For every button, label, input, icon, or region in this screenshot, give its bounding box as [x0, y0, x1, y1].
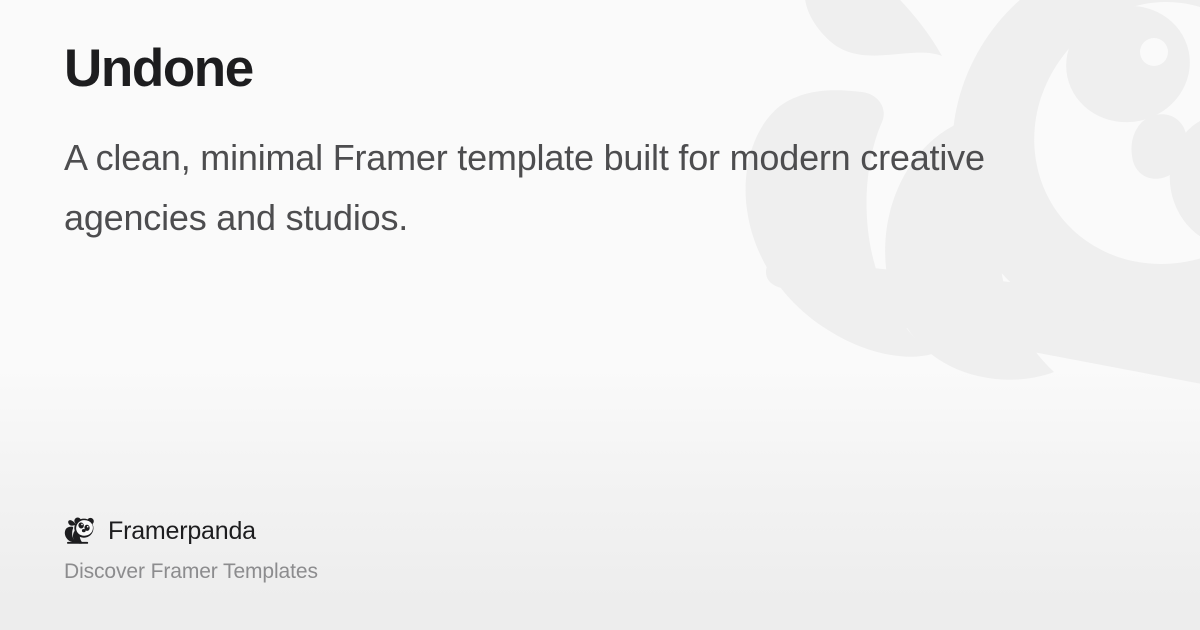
panda-logo-icon [64, 516, 94, 546]
card-content: Undone A clean, minimal Framer template … [0, 0, 1200, 630]
page-title: Undone [64, 40, 1136, 97]
brand-footer: Framerpanda Discover Framer Templates [64, 516, 1136, 630]
brand-name: Framerpanda [108, 519, 256, 544]
brand-tagline: Discover Framer Templates [64, 561, 1136, 582]
page-subtitle: A clean, minimal Framer template built f… [64, 128, 1084, 248]
hero-section: Undone A clean, minimal Framer template … [64, 0, 1136, 248]
og-preview-card: Undone A clean, minimal Framer template … [0, 0, 1200, 630]
brand-row: Framerpanda [64, 516, 1136, 546]
